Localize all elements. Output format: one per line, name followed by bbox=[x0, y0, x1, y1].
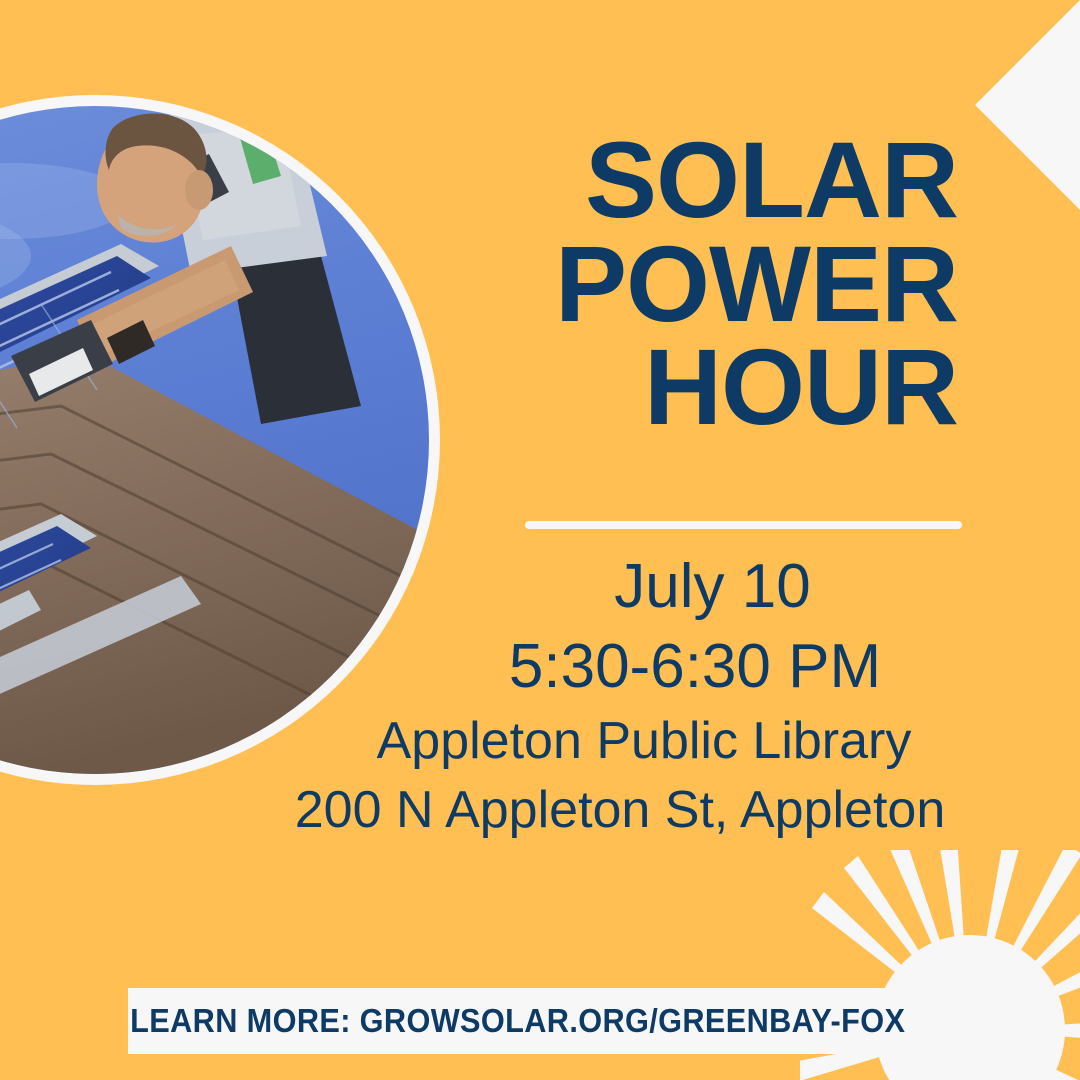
learn-more-text: LEARN MORE: GROWSOLAR.ORG/GREENBAY-FOX bbox=[130, 1002, 905, 1040]
title-line-2: POWER bbox=[470, 232, 958, 336]
event-date: July 10 bbox=[280, 548, 960, 626]
event-address: 200 N Appleton St, Appleton bbox=[280, 777, 960, 845]
page-title: SOLAR POWER HOUR bbox=[470, 128, 958, 439]
event-time: 5:30-6:30 PM bbox=[280, 626, 960, 708]
chevron-corner-icon bbox=[975, 0, 1080, 210]
event-details: July 10 5:30-6:30 PM Appleton Public Lib… bbox=[280, 548, 960, 845]
event-venue: Appleton Public Library bbox=[280, 707, 960, 777]
divider-rule bbox=[525, 521, 962, 529]
content-column: SOLAR POWER HOUR July 10 5:30-6:30 PM Ap… bbox=[470, 0, 970, 1080]
learn-more-banner[interactable]: LEARN MORE: GROWSOLAR.ORG/GREENBAY-FOX bbox=[128, 988, 907, 1054]
title-line-1: SOLAR bbox=[470, 128, 958, 232]
poster-canvas: SOLAR POWER HOUR July 10 5:30-6:30 PM Ap… bbox=[0, 0, 1080, 1080]
title-line-3: HOUR bbox=[470, 335, 958, 439]
